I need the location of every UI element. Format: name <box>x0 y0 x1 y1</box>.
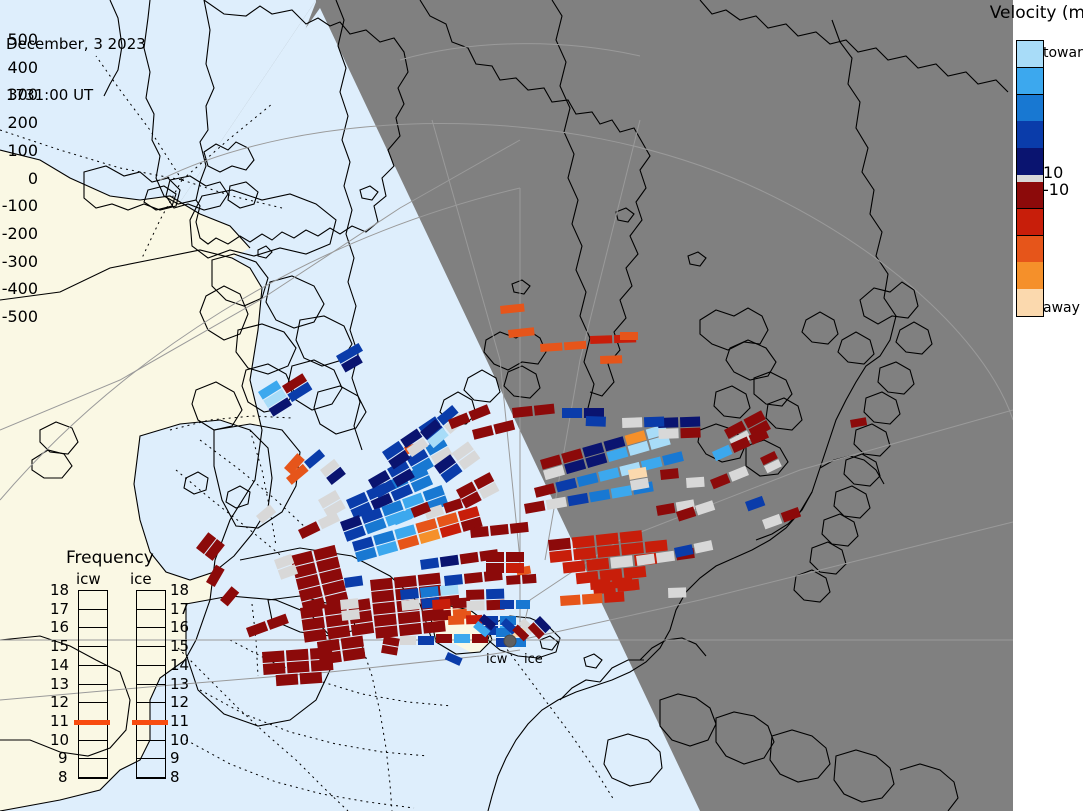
colorbar-panel: Velocity (m/s) <box>1013 0 1083 811</box>
colorbar-segment <box>1017 121 1043 148</box>
frequency-tick-label-left: 12 <box>50 693 69 711</box>
colorbar-segment <box>1017 95 1043 122</box>
colorbar-tick-label: -200 <box>0 224 38 243</box>
frequency-tick-label-left: 16 <box>50 618 69 636</box>
frequency-tick-label-left: 8 <box>58 768 68 786</box>
frequency-tick-label-right: 17 <box>170 600 189 618</box>
frequency-bar-tick <box>79 665 107 666</box>
colorbar-tick-label: 200 <box>0 113 38 132</box>
frequency-tick-label-right: 12 <box>170 693 189 711</box>
colorbar-tick-label: 400 <box>0 58 38 77</box>
frequency-bar-ice <box>136 590 166 779</box>
frequency-bar-tick <box>137 627 165 628</box>
colorbar-away-label: away <box>1043 300 1080 316</box>
frequency-tick-label-left: 15 <box>50 637 69 655</box>
colorbar-segment <box>1017 209 1043 236</box>
frequency-tick-label-left: 11 <box>50 712 69 730</box>
frequency-bar-tick <box>137 758 165 759</box>
frequency-bar-icw <box>78 590 108 779</box>
frequency-legend: Frequency icw ice 18171615141312111098 1… <box>58 548 198 778</box>
colorbar-tick-label: 100 <box>0 141 38 160</box>
colorbar-title: Velocity (m/s) <box>963 3 1083 23</box>
colorbar-tick-label: 300 <box>0 85 38 104</box>
frequency-bar-tick <box>137 740 165 741</box>
colorbar-segment <box>1017 262 1043 289</box>
frequency-tick-label-right: 15 <box>170 637 189 655</box>
frequency-bar-tick <box>79 609 107 610</box>
frequency-marker-ice <box>132 720 168 725</box>
frequency-column-label-ice: ice <box>130 570 152 588</box>
colorbar-segment <box>1017 41 1043 68</box>
frequency-bar-tick <box>79 627 107 628</box>
frequency-tick-label-right: 8 <box>170 768 180 786</box>
frequency-tick-label-right: 11 <box>170 712 189 730</box>
frequency-tick-label-left: 17 <box>50 600 69 618</box>
frequency-bar-tick <box>137 777 165 778</box>
frequency-bar-tick <box>137 684 165 685</box>
frequency-tick-label-left: 14 <box>50 656 69 674</box>
frequency-tick-label-left: 13 <box>50 675 69 693</box>
frequency-bar-tick <box>79 758 107 759</box>
colorbar-tick-label: -300 <box>0 252 38 271</box>
colorbar-negative-threshold: -10 <box>1043 180 1069 199</box>
frequency-tick-label-left: 10 <box>50 731 69 749</box>
colorbar-segment <box>1017 289 1043 316</box>
map-label-ice: ice <box>524 652 543 667</box>
colorbar-segment <box>1017 148 1043 175</box>
colorbar-segment <box>1017 68 1043 95</box>
frequency-bar-tick <box>79 646 107 647</box>
colorbar-toward-label: toward <box>1043 45 1083 61</box>
frequency-tick-label-right: 10 <box>170 731 189 749</box>
colorbar-segment <box>1017 182 1043 209</box>
frequency-marker-icw <box>74 720 110 725</box>
frequency-tick-label-right: 16 <box>170 618 189 636</box>
frequency-tick-label-right: 9 <box>170 749 180 767</box>
map-label-icw: icw <box>486 652 507 667</box>
frequency-bar-tick <box>137 646 165 647</box>
frequency-tick-label-left: 9 <box>58 749 68 767</box>
colorbar-tick-label: 500 <box>0 30 38 49</box>
frequency-title: Frequency <box>66 548 154 568</box>
superdarn-velocity-map: December, 3 2023 1731:00 UT icw ice Freq… <box>0 0 1083 811</box>
frequency-bar-tick <box>79 684 107 685</box>
radar-site-marker <box>504 635 516 647</box>
frequency-column-label-icw: icw <box>76 570 101 588</box>
colorbar-tick-label: -400 <box>0 279 38 298</box>
frequency-bar-tick <box>79 702 107 703</box>
frequency-bar-tick <box>79 740 107 741</box>
frequency-bar-tick <box>137 609 165 610</box>
map-panel[interactable]: December, 3 2023 1731:00 UT icw ice Freq… <box>0 0 1013 811</box>
colorbar-tick-label: -100 <box>0 196 38 215</box>
colorbar-gradient <box>1016 40 1044 317</box>
frequency-tick-label-right: 14 <box>170 656 189 674</box>
colorbar-tick-label: -500 <box>0 307 38 326</box>
colorbar-tick-label: 0 <box>0 169 38 188</box>
frequency-bar-tick <box>137 702 165 703</box>
frequency-bar-tick <box>137 665 165 666</box>
frequency-bar-tick <box>79 777 107 778</box>
frequency-tick-label-left: 18 <box>50 581 69 599</box>
frequency-tick-label-right: 18 <box>170 581 189 599</box>
colorbar-segment <box>1017 236 1043 263</box>
frequency-tick-label-right: 13 <box>170 675 189 693</box>
